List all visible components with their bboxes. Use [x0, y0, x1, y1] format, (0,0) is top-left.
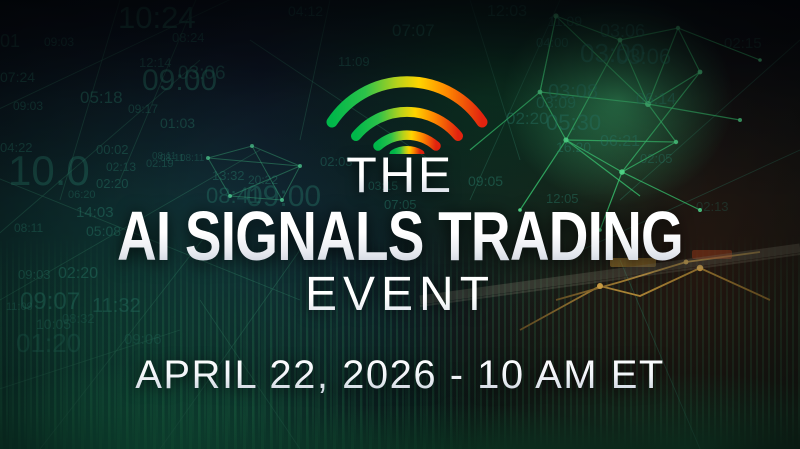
event-date-line: APRIL 22, 2026 - 10 AM ET [135, 353, 665, 398]
headline-sub: EVENT [305, 267, 495, 322]
headline-main: AI SIGNALS TRADING [117, 196, 683, 276]
headline-block: THE AI SIGNALS TRADING EVENT APRIL 22, 2… [0, 0, 800, 449]
promo-poster: 10:2408:2404:1207:0711:0912:1411:0912:03… [0, 0, 800, 449]
